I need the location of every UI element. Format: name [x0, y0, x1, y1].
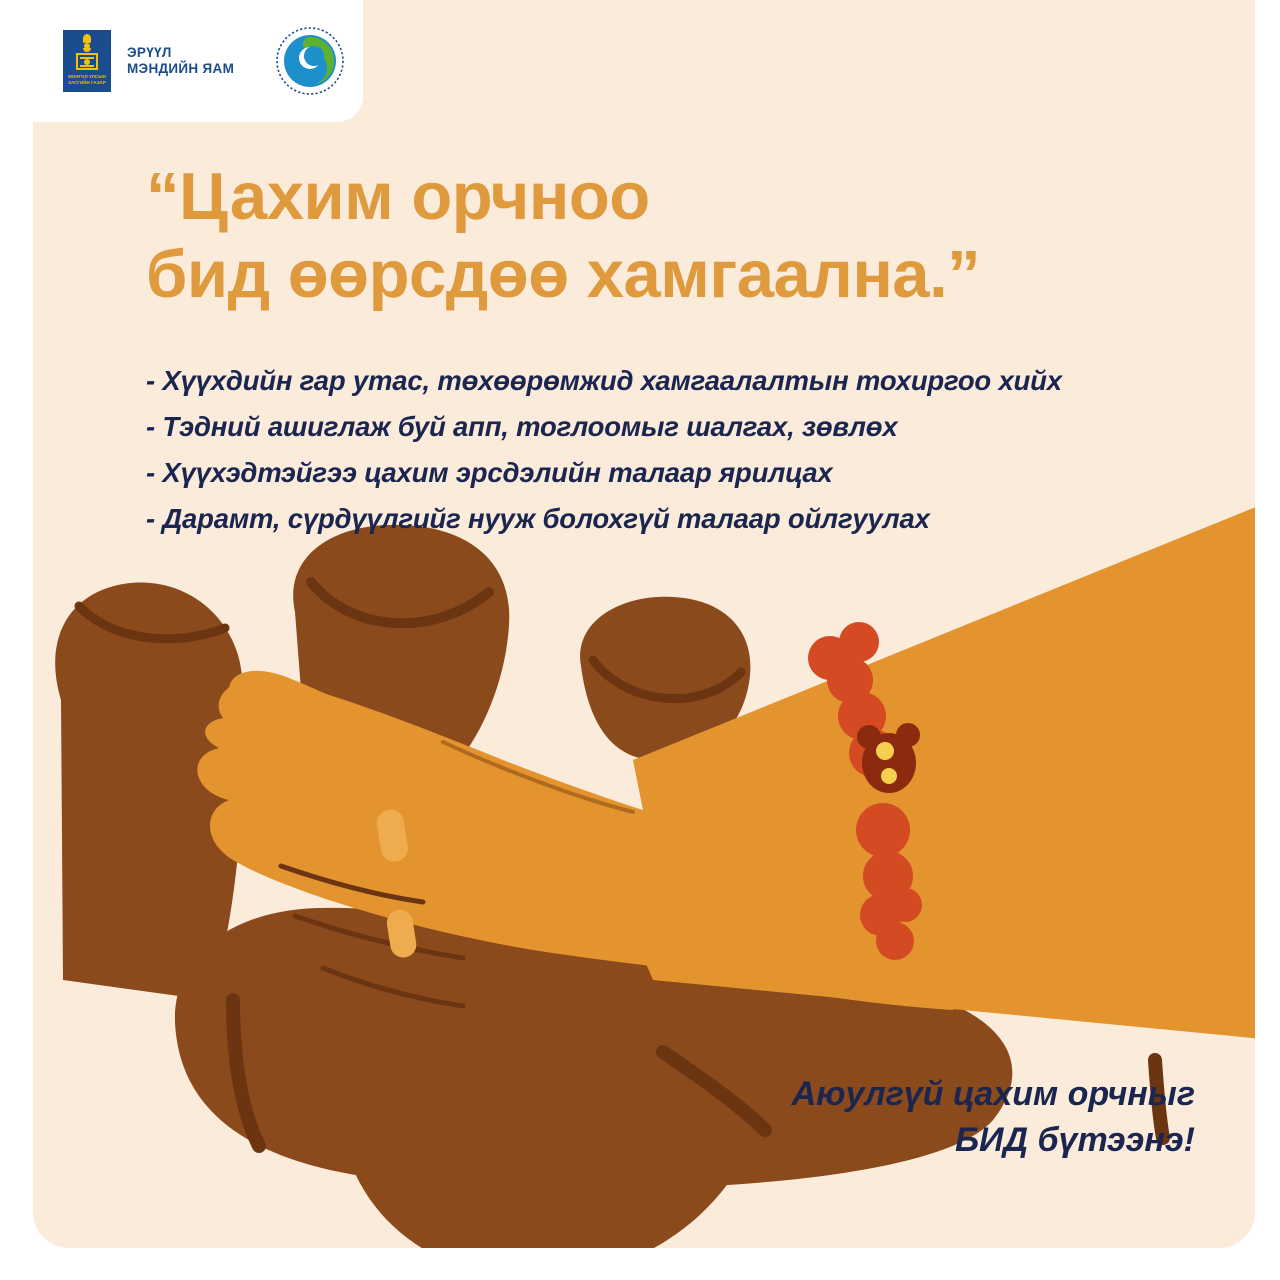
list-item: - Тэдний ашиглаж буй апп, тоглоомыг шалг… — [146, 404, 1226, 450]
gov-logo-caption: МОНГОЛ УЛСЫН ЗАСГИЙН ГАЗАР — [63, 74, 111, 85]
soyombo-icon — [74, 34, 100, 72]
ministry-name-label: ЭРҮҮЛ МЭНДИЙН ЯАМ — [127, 45, 234, 77]
page-title: “Цахим орчноо бид өөрсдөө хамгаална.” — [146, 158, 1206, 314]
list-item: - Хүүхэдтэйгээ цахим эрсдэлийн талаар яр… — [146, 450, 1226, 496]
poster-root: МОНГОЛ УЛСЫН ЗАСГИЙН ГАЗАР ЭРҮҮЛ МЭНДИЙН… — [0, 0, 1280, 1280]
logo-group: МОНГОЛ УЛСЫН ЗАСГИЙН ГАЗАР ЭРҮҮЛ МЭНДИЙН… — [63, 27, 344, 95]
list-item: - Хүүхдийн гар утас, төхөөрөмжид хамгаал… — [146, 358, 1226, 404]
mongolia-government-emblem-icon: МОНГОЛ УЛСЫН ЗАСГИЙН ГАЗАР — [63, 30, 111, 92]
tagline-text: Аюулгүй цахим орчныг БИД бүтээнэ! — [792, 1071, 1195, 1163]
national-center-public-health-logo-icon — [276, 27, 344, 95]
logo-header-panel: МОНГОЛ УЛСЫН ЗАСГИЙН ГАЗАР ЭРҮҮЛ МЭНДИЙН… — [33, 0, 363, 122]
list-item: - Дарамт, сүрдүүлгийг нууж болохгүй тала… — [146, 496, 1226, 542]
poster-card: МОНГОЛ УЛСЫН ЗАСГИЙН ГАЗАР ЭРҮҮЛ МЭНДИЙН… — [33, 0, 1255, 1248]
bullet-list: - Хүүхдийн гар утас, төхөөрөмжид хамгаал… — [146, 358, 1226, 542]
